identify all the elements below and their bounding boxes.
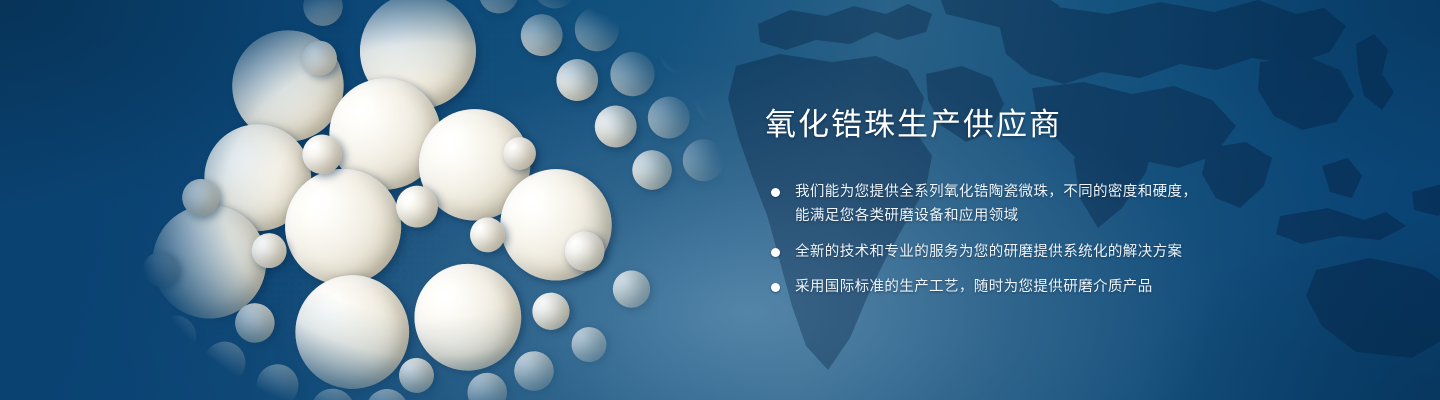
page-title: 氧化锆珠生产供应商 <box>765 106 1385 144</box>
bullet-dot-icon <box>771 248 780 257</box>
bullet-dot-icon <box>771 188 780 197</box>
list-item: 全新的技术和专业的服务为您的研磨提供系统化的解决方案 <box>769 240 1385 264</box>
list-item: 采用国际标准的生产工艺，随时为您提供研磨介质产品 <box>769 275 1385 299</box>
list-item-line1: 全新的技术和专业的服务为您的研磨提供系统化的解决方案 <box>795 244 1182 260</box>
list-item: 我们能为您提供全系列氧化锆陶瓷微珠，不同的密度和硬度， 能满足您各类研磨设备和应… <box>769 180 1385 229</box>
list-item-line1: 采用国际标准的生产工艺，随时为您提供研磨介质产品 <box>795 279 1153 295</box>
list-item-line1: 我们能为您提供全系列氧化锆陶瓷微珠，不同的密度和硬度， <box>795 184 1197 200</box>
bullet-dot-icon <box>771 283 780 292</box>
list-item-line2: 能满足您各类研磨设备和应用领域 <box>795 204 1385 228</box>
banner-copy: 氧化锆珠生产供应商 我们能为您提供全系列氧化锆陶瓷微珠，不同的密度和硬度， 能满… <box>765 106 1385 299</box>
feature-list: 我们能为您提供全系列氧化锆陶瓷微珠，不同的密度和硬度， 能满足您各类研磨设备和应… <box>769 180 1385 299</box>
product-hero-banner: 氧化锆珠生产供应商 我们能为您提供全系列氧化锆陶瓷微珠，不同的密度和硬度， 能满… <box>0 0 1440 400</box>
